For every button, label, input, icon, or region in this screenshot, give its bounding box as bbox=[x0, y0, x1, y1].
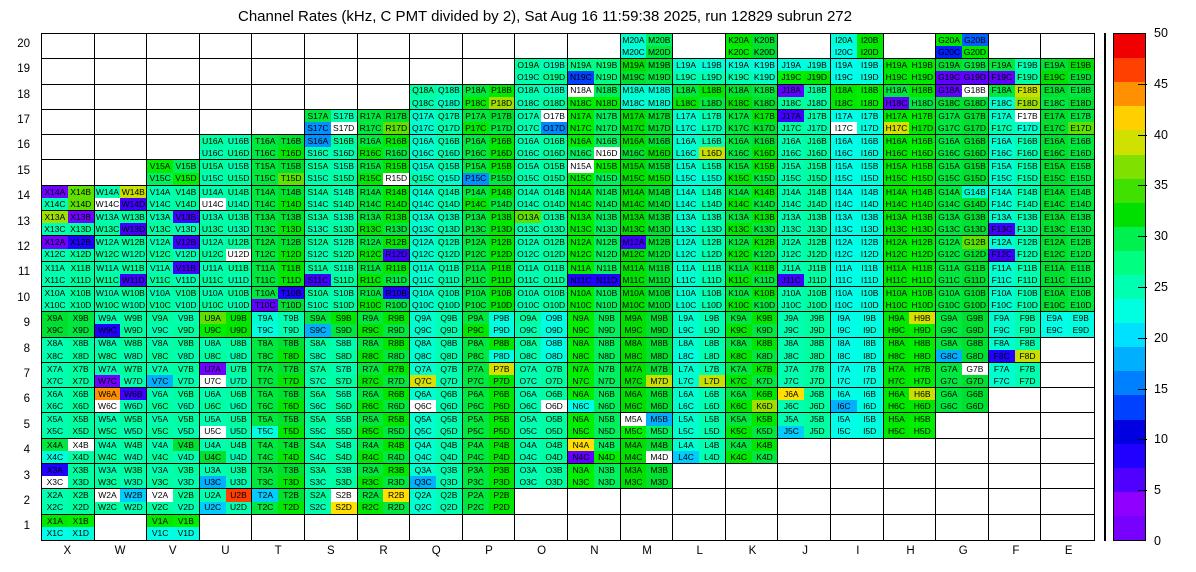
channel-P6B: P6B bbox=[489, 388, 515, 400]
channel-R16C: R16C bbox=[358, 147, 384, 159]
channel-N13C: N13C bbox=[568, 223, 594, 235]
channel-S14C: S14C bbox=[305, 198, 331, 210]
channel-X1D: X1D bbox=[68, 527, 94, 540]
colorbar-band-5 bbox=[1114, 395, 1145, 419]
channel-S12D: S12D bbox=[331, 249, 357, 261]
channel-R16B: R16B bbox=[383, 135, 409, 147]
channel-W8D: W8D bbox=[120, 350, 146, 362]
channel-W7B: W7B bbox=[120, 363, 146, 375]
channel-R1C bbox=[358, 527, 384, 540]
channel-E2C bbox=[1041, 502, 1067, 514]
heatmap-cell-N10: N10AN10BN10CN10D bbox=[568, 287, 621, 312]
channel-J14C: J14C bbox=[778, 198, 804, 210]
heatmap-cell-V16 bbox=[147, 135, 200, 160]
channel-N10A: N10A bbox=[568, 287, 594, 299]
channel-J7A: J7A bbox=[778, 363, 804, 375]
heatmap-cell-F14: F14AF14BF14CF14D bbox=[989, 186, 1042, 211]
channel-O19C: O19C bbox=[515, 71, 541, 83]
channel-T15A: T15A bbox=[252, 160, 278, 172]
channel-F11D: F11D bbox=[1015, 274, 1041, 286]
channel-I11B: I11B bbox=[857, 262, 883, 274]
heatmap-cell-L7: L7AL7BL7CL7D bbox=[673, 363, 726, 388]
channel-T10D: T10D bbox=[278, 299, 304, 311]
channel-F18D: F18D bbox=[1015, 97, 1041, 109]
channel-K17D: K17D bbox=[752, 122, 778, 134]
heatmap-cell-K16: K16AK16BK16CK16D bbox=[726, 135, 779, 160]
channel-E5C bbox=[1041, 426, 1067, 438]
heatmap-cell-S8: S8AS8BS8CS8D bbox=[305, 338, 358, 363]
channel-K14D: K14D bbox=[752, 198, 778, 210]
channel-O10C: O10C bbox=[515, 299, 541, 311]
heatmap-cell-O19: O19AO19BO19CO19D bbox=[515, 59, 568, 84]
channel-S9C: S9C bbox=[305, 324, 331, 336]
x-axis-tick-V: V bbox=[146, 545, 199, 565]
x-axis-tick-H: H bbox=[884, 545, 937, 565]
heatmap-cell-N8: N8AN8BN8CN8D bbox=[568, 338, 621, 363]
channel-I10C: I10C bbox=[831, 299, 857, 311]
channel-H7B: H7B bbox=[909, 363, 935, 375]
heatmap-cell-U9: U9AU9BU9CU9D bbox=[200, 312, 253, 337]
heatmap-cell-R7: R7AR7BR7CR7D bbox=[358, 363, 411, 388]
heatmap-cell-K2 bbox=[726, 489, 779, 514]
channel-F7B: F7B bbox=[1015, 363, 1041, 375]
channel-E1B bbox=[1068, 515, 1094, 528]
channel-T7A: T7A bbox=[252, 363, 278, 375]
channel-J17D: J17D bbox=[804, 122, 830, 134]
channel-U6D: U6D bbox=[226, 400, 252, 412]
channel-N19C: N19C bbox=[568, 71, 594, 83]
channel-S11A: S11A bbox=[305, 262, 331, 274]
channel-O18C: O18C bbox=[515, 97, 541, 109]
channel-T3C: T3C bbox=[252, 476, 278, 488]
heatmap-cell-L6: L6AL6BL6CL6D bbox=[673, 388, 726, 413]
channel-S17D: S17D bbox=[331, 122, 357, 134]
channel-E17B: E17B bbox=[1068, 110, 1094, 122]
channel-N5B: N5B bbox=[594, 413, 620, 425]
channel-F2A bbox=[989, 489, 1015, 501]
channel-J1B bbox=[804, 515, 830, 528]
heatmap-cell-Q20 bbox=[410, 34, 463, 59]
channel-G20C: G20C bbox=[936, 46, 962, 58]
channel-V16C bbox=[147, 147, 173, 159]
channel-G18C: G18C bbox=[936, 97, 962, 109]
channel-Q12B: Q12B bbox=[436, 236, 462, 248]
channel-M2A bbox=[621, 489, 647, 501]
channel-G5B bbox=[962, 413, 988, 425]
heatmap-cell-S6: S6AS6BS6CS6D bbox=[305, 388, 358, 413]
channel-T7B: T7B bbox=[278, 363, 304, 375]
channel-V11D: V11D bbox=[173, 274, 199, 286]
channel-H15A: H15A bbox=[884, 160, 910, 172]
channel-T14A: T14A bbox=[252, 186, 278, 198]
channel-Q5A: Q5A bbox=[410, 413, 436, 425]
channel-T19C bbox=[252, 71, 278, 83]
channel-Q16A: Q16A bbox=[410, 135, 436, 147]
channel-I7B: I7B bbox=[857, 363, 883, 375]
channel-O7A: O7A bbox=[515, 363, 541, 375]
channel-Q12C: Q12C bbox=[410, 249, 436, 261]
channel-S8C: S8C bbox=[305, 350, 331, 362]
channel-S13A: S13A bbox=[305, 211, 331, 223]
heatmap-cell-K6: K6AK6BK6CK6D bbox=[726, 388, 779, 413]
channel-L9A: L9A bbox=[673, 312, 699, 324]
channel-Q9B: Q9B bbox=[436, 312, 462, 324]
channel-G6D: G6D bbox=[962, 400, 988, 412]
channel-W3C: W3C bbox=[95, 476, 121, 488]
heatmap-cell-P14: P14AP14BP14CP14D bbox=[463, 186, 516, 211]
channel-O15B: O15B bbox=[541, 160, 567, 172]
channel-O16C: O16C bbox=[515, 147, 541, 159]
channel-L16C: L16C bbox=[673, 147, 699, 159]
channel-X10D: X10D bbox=[68, 299, 94, 311]
channel-R6A: R6A bbox=[358, 388, 384, 400]
channel-X13B: X13B bbox=[68, 211, 94, 223]
channel-W16D bbox=[120, 147, 146, 159]
colorbar-tick-20: 20 bbox=[1154, 331, 1168, 345]
channel-I15A: I15A bbox=[831, 160, 857, 172]
channel-N2B bbox=[594, 489, 620, 501]
channel-T14D: T14D bbox=[278, 198, 304, 210]
channel-I15B: I15B bbox=[857, 160, 883, 172]
heatmap-cell-G7: G7AG7BG7CG7D bbox=[936, 363, 989, 388]
channel-H2B bbox=[909, 489, 935, 501]
channel-M6A: M6A bbox=[621, 388, 647, 400]
heatmap-cell-L3 bbox=[673, 464, 726, 489]
channel-G16B: G16B bbox=[962, 135, 988, 147]
channel-S17B: S17B bbox=[331, 110, 357, 122]
channel-O2B bbox=[541, 489, 567, 501]
y-axis-tick-19: 19 bbox=[0, 63, 30, 75]
channel-M7C: M7C bbox=[621, 375, 647, 387]
channel-G11B: G11B bbox=[962, 262, 988, 274]
heatmap-cell-E1 bbox=[1041, 515, 1094, 540]
channel-T2B: T2B bbox=[278, 489, 304, 501]
channel-X6A: X6A bbox=[42, 388, 68, 400]
channel-M7B: M7B bbox=[646, 363, 672, 375]
channel-Q1A bbox=[410, 515, 436, 528]
channel-P11B: P11B bbox=[489, 262, 515, 274]
channel-J2C bbox=[778, 502, 804, 514]
channel-M17B: M17B bbox=[646, 110, 672, 122]
channel-E7C bbox=[1041, 375, 1067, 387]
channel-X2B: X2B bbox=[68, 489, 94, 501]
channel-S1B bbox=[331, 515, 357, 528]
channel-M10C: M10C bbox=[621, 299, 647, 311]
channel-K20C: K20C bbox=[726, 46, 752, 58]
channel-H8A: H8A bbox=[884, 338, 910, 350]
channel-G1B bbox=[962, 515, 988, 528]
heatmap-cell-S16: S16AS16BS16CS16D bbox=[305, 135, 358, 160]
channel-L2D bbox=[699, 502, 725, 514]
channel-P18B: P18B bbox=[489, 85, 515, 97]
channel-T4B: T4B bbox=[278, 439, 304, 451]
channel-W1A bbox=[95, 515, 121, 528]
channel-M5A: M5A bbox=[621, 413, 647, 425]
channel-E7D bbox=[1068, 375, 1094, 387]
channel-U2C: U2C bbox=[200, 502, 226, 514]
channel-U11C: U11C bbox=[200, 274, 226, 286]
channel-L16D: L16D bbox=[699, 147, 725, 159]
channel-T9A: T9A bbox=[252, 312, 278, 324]
heatmap-cell-K9: K9AK9BK9CK9D bbox=[726, 312, 779, 337]
channel-Q5D: Q5D bbox=[436, 426, 462, 438]
channel-O19A: O19A bbox=[515, 59, 541, 71]
heatmap-cell-T18 bbox=[252, 85, 305, 110]
channel-L14C: L14C bbox=[673, 198, 699, 210]
channel-Q13D: Q13D bbox=[436, 223, 462, 235]
channel-H16C: H16C bbox=[884, 147, 910, 159]
heatmap-cell-I3 bbox=[831, 464, 884, 489]
heatmap-cell-N1 bbox=[568, 515, 621, 540]
heatmap-cell-P13: P13AP13BP13CP13D bbox=[463, 211, 516, 236]
channel-M18D: M18D bbox=[646, 97, 672, 109]
channel-H11D: H11D bbox=[909, 274, 935, 286]
channel-T20C bbox=[252, 46, 278, 58]
channel-W9A: W9A bbox=[95, 312, 121, 324]
channel-I3A bbox=[831, 464, 857, 476]
channel-Q20D bbox=[436, 46, 462, 58]
heatmap-cell-X7: X7AX7BX7CX7D bbox=[42, 363, 95, 388]
channel-L18B: L18B bbox=[699, 85, 725, 97]
channel-G19A: G19A bbox=[936, 59, 962, 71]
y-axis-tick-2: 2 bbox=[0, 495, 30, 507]
channel-G4C bbox=[936, 451, 962, 463]
channel-V5A: V5A bbox=[147, 413, 173, 425]
colorbar-band-2 bbox=[1114, 468, 1145, 492]
channel-M11D: M11D bbox=[646, 274, 672, 286]
heatmap-cell-R20 bbox=[358, 34, 411, 59]
channel-S10C: S10C bbox=[305, 299, 331, 311]
channel-G12D: G12D bbox=[962, 249, 988, 261]
channel-R9C: R9C bbox=[358, 324, 384, 336]
channel-N18D: N18D bbox=[594, 97, 620, 109]
channel-I19A: I19A bbox=[831, 59, 857, 71]
channel-Q8A: Q8A bbox=[410, 338, 436, 350]
heatmap-cell-I12: I12AI12BI12CI12D bbox=[831, 236, 884, 261]
y-axis-tick-6: 6 bbox=[0, 393, 30, 405]
channel-E1C bbox=[1041, 527, 1067, 540]
heatmap-cell-S17: S17AS17BS17CS17D bbox=[305, 110, 358, 135]
channel-N19B: N19B bbox=[594, 59, 620, 71]
channel-K8A: K8A bbox=[726, 338, 752, 350]
channel-H17D: H17D bbox=[909, 122, 935, 134]
channel-P2A: P2A bbox=[463, 489, 489, 501]
channel-H18D: H18D bbox=[909, 97, 935, 109]
chart-canvas: Channel Rates (kHz, C PMT divided by 2),… bbox=[0, 0, 1196, 572]
channel-X5B: X5B bbox=[68, 413, 94, 425]
channel-V3D: V3D bbox=[173, 476, 199, 488]
channel-J12A: J12A bbox=[778, 236, 804, 248]
channel-F3B bbox=[1015, 464, 1041, 476]
channel-E18B: E18B bbox=[1068, 85, 1094, 97]
heatmap-cell-F6 bbox=[989, 388, 1042, 413]
channel-L3A bbox=[673, 464, 699, 476]
channel-H5D: H5D bbox=[909, 426, 935, 438]
channel-X12D: X12D bbox=[68, 249, 94, 261]
channel-E16D: E16D bbox=[1068, 147, 1094, 159]
channel-W4D: W4D bbox=[120, 451, 146, 463]
heatmap-cell-W7: W7AW7BW7CW7D bbox=[95, 363, 148, 388]
heatmap-cell-V4: V4AV4BV4CV4D bbox=[147, 439, 200, 464]
channel-J6B: J6B bbox=[804, 388, 830, 400]
channel-U19B bbox=[226, 59, 252, 71]
channel-O12C: O12C bbox=[515, 249, 541, 261]
channel-V6B: V6B bbox=[173, 388, 199, 400]
channel-L8B: L8B bbox=[699, 338, 725, 350]
channel-O11D: O11D bbox=[541, 274, 567, 286]
channel-G11C: G11C bbox=[936, 274, 962, 286]
channel-M19B: M19B bbox=[646, 59, 672, 71]
channel-G8C: G8C bbox=[936, 350, 962, 362]
heatmap-cell-U7: U7AU7BU7CU7D bbox=[200, 363, 253, 388]
channel-S1C bbox=[305, 527, 331, 540]
heatmap-cell-J14: J14AJ14BJ14CJ14D bbox=[778, 186, 831, 211]
heatmap-cell-P12: P12AP12BP12CP12D bbox=[463, 236, 516, 261]
heatmap-cell-F17: F17AF17BF17CF17D bbox=[989, 110, 1042, 135]
channel-J13D: J13D bbox=[804, 223, 830, 235]
heatmap-cell-X15 bbox=[42, 160, 95, 185]
channel-L16A: L16A bbox=[673, 135, 699, 147]
channel-H3B bbox=[909, 464, 935, 476]
heatmap-cell-I19: I19AI19BI19CI19D bbox=[831, 59, 884, 84]
channel-S5B: S5B bbox=[331, 413, 357, 425]
channel-X2C: X2C bbox=[42, 502, 68, 514]
channel-E16A: E16A bbox=[1041, 135, 1067, 147]
channel-V19D bbox=[173, 71, 199, 83]
channel-G17C: G17C bbox=[936, 122, 962, 134]
channel-E17D: E17D bbox=[1068, 122, 1094, 134]
heatmap-cell-O15: O15AO15BO15CO15D bbox=[515, 160, 568, 185]
channel-R17C: R17C bbox=[358, 122, 384, 134]
channel-V7D: V7D bbox=[173, 375, 199, 387]
channel-U8A: U8A bbox=[200, 338, 226, 350]
heatmap-cell-P20 bbox=[463, 34, 516, 59]
heatmap-cell-V8: V8AV8BV8CV8D bbox=[147, 338, 200, 363]
channel-M16B: M16B bbox=[646, 135, 672, 147]
channel-X7B: X7B bbox=[68, 363, 94, 375]
channel-M15A: M15A bbox=[621, 160, 647, 172]
channel-J12C: J12C bbox=[778, 249, 804, 261]
channel-X10B: X10B bbox=[68, 287, 94, 299]
heatmap-cell-V12: V12AV12BV12CV12D bbox=[147, 236, 200, 261]
channel-K17C: K17C bbox=[726, 122, 752, 134]
heatmap-cell-V13: V13AV13BV13CV13D bbox=[147, 211, 200, 236]
channel-P10B: P10B bbox=[489, 287, 515, 299]
heatmap-cell-L11: L11AL11BL11CL11D bbox=[673, 262, 726, 287]
channel-Q17B: Q17B bbox=[436, 110, 462, 122]
channel-Q11A: Q11A bbox=[410, 262, 436, 274]
channel-K1D bbox=[752, 527, 778, 540]
channel-S7D: S7D bbox=[331, 375, 357, 387]
heatmap-cell-G16: G16AG16BG16CG16D bbox=[936, 135, 989, 160]
channel-W14A: W14A bbox=[95, 186, 121, 198]
channel-V19B bbox=[173, 59, 199, 71]
channel-W18B bbox=[120, 85, 146, 97]
channel-V8A: V8A bbox=[147, 338, 173, 350]
channel-N12D: N12D bbox=[594, 249, 620, 261]
channel-J17C: J17C bbox=[778, 122, 804, 134]
heatmap-cell-N4: N4AN4BN4CN4D bbox=[568, 439, 621, 464]
channel-K20A: K20A bbox=[726, 34, 752, 46]
heatmap-cell-I13: I13AI13BI13CI13D bbox=[831, 211, 884, 236]
channel-L1B bbox=[699, 515, 725, 528]
channel-X14C: X14C bbox=[42, 198, 68, 210]
channel-U6C: U6C bbox=[200, 400, 226, 412]
channel-E6D bbox=[1068, 400, 1094, 412]
channel-P15D: P15D bbox=[489, 173, 515, 185]
channel-K15A: K15A bbox=[726, 160, 752, 172]
channel-W17C bbox=[95, 122, 121, 134]
heatmap-cell-P6: P6AP6BP6CP6D bbox=[463, 388, 516, 413]
heatmap-cell-H2 bbox=[884, 489, 937, 514]
channel-R15C: R15C bbox=[358, 173, 384, 185]
channel-X18B bbox=[68, 85, 94, 97]
channel-H12B: H12B bbox=[909, 236, 935, 248]
channel-X1C: X1C bbox=[42, 527, 68, 540]
channel-E6C bbox=[1041, 400, 1067, 412]
channel-E5A bbox=[1041, 413, 1067, 425]
channel-L17B: L17B bbox=[699, 110, 725, 122]
channel-T5C: T5C bbox=[252, 426, 278, 438]
channel-F8C: F8C bbox=[989, 350, 1015, 362]
channel-L5D: L5D bbox=[699, 426, 725, 438]
heatmap-cell-P15: P15AP15BP15CP15D bbox=[463, 160, 516, 185]
channel-V14A: V14A bbox=[147, 186, 173, 198]
channel-I11A: I11A bbox=[831, 262, 857, 274]
channel-R2D: R2D bbox=[383, 502, 409, 514]
channel-M19C: M19C bbox=[621, 71, 647, 83]
heatmap-cell-M5: M5AM5BM5CM5D bbox=[621, 413, 674, 438]
channel-L20B bbox=[699, 34, 725, 46]
channel-U4C: U4C bbox=[200, 451, 226, 463]
channel-R4D: R4D bbox=[383, 451, 409, 463]
channel-X4D: X4D bbox=[68, 451, 94, 463]
heatmap-cell-H6: H6AH6BH6CH6D bbox=[884, 388, 937, 413]
channel-T16A: T16A bbox=[252, 135, 278, 147]
heatmap-cell-X12: X12AX12BX12CX12D bbox=[42, 236, 95, 261]
channel-P13D: P13D bbox=[489, 223, 515, 235]
x-axis-tick-T: T bbox=[252, 545, 305, 565]
channel-V16D bbox=[173, 147, 199, 159]
channel-E20D bbox=[1068, 46, 1094, 58]
channel-E20C bbox=[1041, 46, 1067, 58]
channel-P19B bbox=[489, 59, 515, 71]
channel-I15D: I15D bbox=[857, 173, 883, 185]
channel-K2C bbox=[726, 502, 752, 514]
channel-E3C bbox=[1041, 476, 1067, 488]
channel-G3A bbox=[936, 464, 962, 476]
colorbar-tick-50: 50 bbox=[1154, 26, 1168, 40]
channel-S15A: S15A bbox=[305, 160, 331, 172]
channel-W4A: W4A bbox=[95, 439, 121, 451]
heatmap-cell-E5 bbox=[1041, 413, 1094, 438]
channel-J10D: J10D bbox=[804, 299, 830, 311]
channel-F14B: F14B bbox=[1015, 186, 1041, 198]
channel-U6B: U6B bbox=[226, 388, 252, 400]
x-axis-tick-M: M bbox=[621, 545, 674, 565]
channel-O2C bbox=[515, 502, 541, 514]
channel-I13C: I13C bbox=[831, 223, 857, 235]
heatmap-cell-F16: F16AF16BF16CF16D bbox=[989, 135, 1042, 160]
channel-O19B: O19B bbox=[541, 59, 567, 71]
channel-K9D: K9D bbox=[752, 324, 778, 336]
channel-J18A: J18A bbox=[778, 85, 804, 97]
channel-W19C bbox=[95, 71, 121, 83]
channel-G10D: G10D bbox=[962, 299, 988, 311]
channel-K20D: K20D bbox=[752, 46, 778, 58]
channel-W1B bbox=[120, 515, 146, 528]
channel-H13C: H13C bbox=[884, 223, 910, 235]
